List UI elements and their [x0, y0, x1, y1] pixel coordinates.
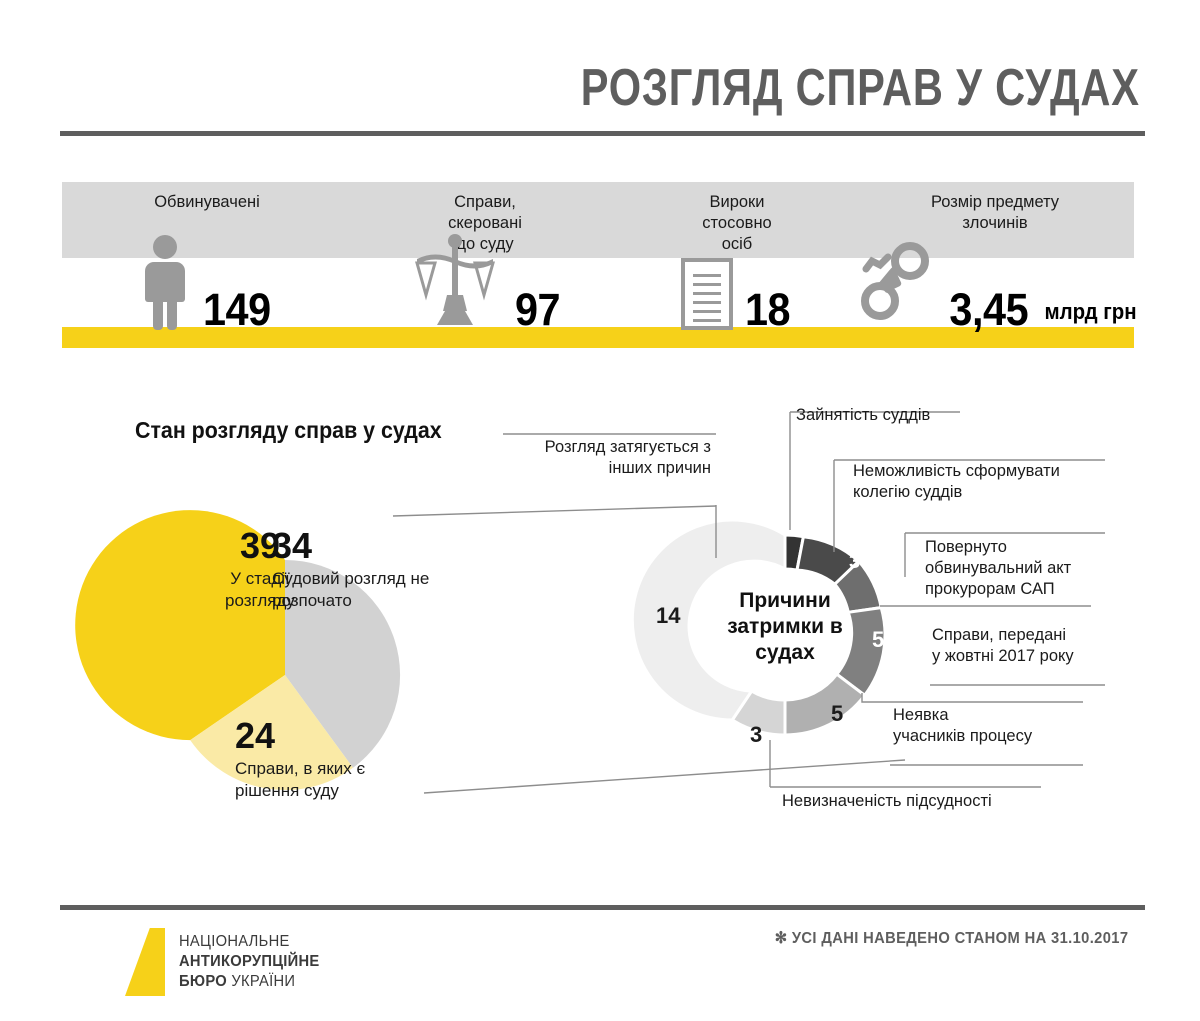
- pie-label-decided: 24 Справи, в яких є рішення суду: [235, 718, 400, 802]
- callout-returned-to-sap: Повернуто обвинувальний акт прокурорам С…: [925, 537, 1145, 600]
- nabu-logo: НАЦІОНАЛЬНЕ АНТИКОРУПЦІЙНЕ БЮРО УКРАЇНИ: [125, 928, 327, 996]
- pie-value: 34: [272, 528, 442, 564]
- donut-value-returned-to-sap: 3: [849, 552, 860, 572]
- infographic-page: РОЗГЛЯД СПРАВ У СУДАХ Обвинувачені 149 С…: [0, 0, 1200, 1021]
- donut-center-title: Причини затримки в судах: [715, 588, 855, 666]
- donut-value-other-reasons: 14: [656, 605, 680, 627]
- logo-line-3-bold: БЮРО: [179, 973, 227, 990]
- pie-category: Справи, в яких є рішення суду: [235, 759, 365, 800]
- pie-category: Судовий розгляд не розпочато: [272, 569, 429, 610]
- logo-mark-icon: [125, 928, 165, 996]
- callout-judges-busy: Зайнятість суддів: [796, 405, 1026, 426]
- callout-cannot-form-panel: Неможливість сформувати колегію суддів: [853, 461, 1123, 503]
- pie-value: 24: [235, 718, 400, 754]
- logo-line-1: НАЦІОНАЛЬНЕ: [179, 932, 320, 952]
- logo-text: НАЦІОНАЛЬНЕ АНТИКОРУПЦІЙНЕ БЮРО УКРАЇНИ: [179, 932, 320, 992]
- callout-no-show: Неявка учасників процесу: [893, 705, 1108, 747]
- callout-october-2017: Справи, передані у жовтні 2017 року: [932, 625, 1147, 667]
- donut-value-cannot-form-panel: 3: [809, 517, 821, 539]
- logo-line-3-rest: УКРАЇНИ: [231, 973, 295, 990]
- data-as-of-note: ✻ УСІ ДАНІ НАВЕДЕНО СТАНОМ НА 31.10.2017: [774, 928, 1128, 948]
- charts-canvas: [0, 0, 1200, 1021]
- pie-label-not-started: 34 Судовий розгляд не розпочато: [272, 528, 442, 612]
- callout-other-reasons: Розгляд затягується з інших причин: [456, 437, 711, 479]
- donut-value-judges-busy: 1: [772, 508, 784, 530]
- callout-jurisdiction: Невизначеність підсудності: [782, 791, 1062, 812]
- donut-value-october-2017: 5: [872, 629, 884, 651]
- footer-divider: [60, 905, 1145, 910]
- logo-line-2: АНТИКОРУПЦІЙНЕ: [179, 952, 320, 972]
- donut-value-jurisdiction: 3: [750, 724, 762, 746]
- logo-line-3: БЮРО УКРАЇНИ: [179, 972, 320, 992]
- donut-value-no-show: 5: [831, 703, 843, 725]
